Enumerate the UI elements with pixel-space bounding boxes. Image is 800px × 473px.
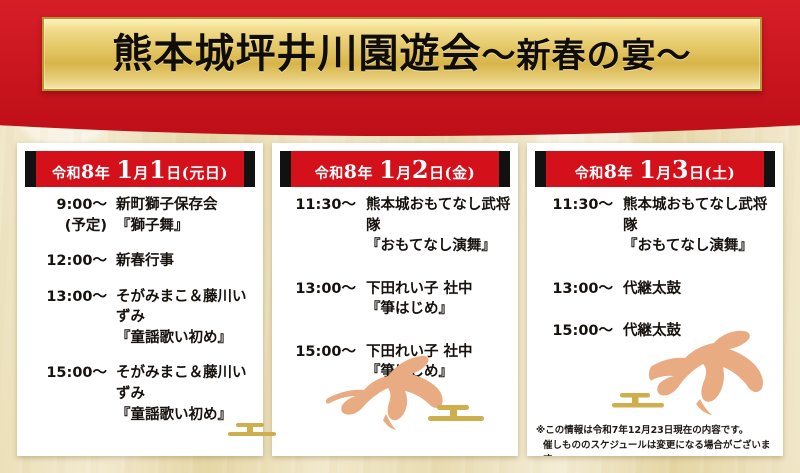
day-unit-2: 日 [429, 164, 445, 182]
day-number-1: 1 [149, 155, 166, 184]
era-label-2: 令和 [315, 166, 344, 182]
event-body: 代継太鼓 [623, 279, 777, 300]
event-time-value: 12:00〜 [46, 253, 107, 269]
month-unit-1: 月 [134, 164, 150, 182]
event-time: 15:00〜 [33, 363, 107, 384]
event-body: 熊本城おもてなし武将隊 『おもてなし演舞』 [623, 195, 777, 257]
event-time: 9:00〜 (予定) [33, 195, 107, 236]
page-title: 熊本城坪井川園遊会〜新春の宴〜 [113, 34, 692, 74]
event-body: そがみまこ＆藤川いずみ 『童謡歌い初め』 [116, 287, 257, 349]
event-time: 13:00〜 [33, 287, 107, 308]
month-number-2: 1 [379, 155, 396, 184]
event-item: 15:00〜 そがみまこ＆藤川いずみ 『童謡歌い初め』 [33, 363, 257, 425]
event-title: 代継太鼓 [623, 281, 681, 297]
year-unit-1: 年 [95, 164, 111, 182]
day-number-3: 3 [672, 155, 689, 184]
day-header-2: 令和8年 1月2日(金) [280, 151, 510, 187]
event-subtitle: 『おもてなし演舞』 [366, 236, 512, 257]
day-of-week-3: (土) [705, 164, 736, 182]
event-time-value: 15:00〜 [46, 365, 107, 381]
day-header-text-3: 令和8年 1月3日(土) [575, 155, 735, 184]
day-header-text-1: 令和8年 1月1日(元日) [52, 155, 228, 184]
title-main: 熊本城坪井川園遊会 [113, 30, 482, 77]
event-item: 11:30〜 熊本城おもてなし武将隊 『おもてなし演舞』 [539, 195, 777, 257]
event-title: 新町獅子保存会 [116, 197, 218, 213]
event-item: 9:00〜 (予定) 新町獅子保存会 『獅子舞』 [33, 195, 257, 236]
event-title: 下田れい子 社中 [366, 281, 473, 297]
event-subtitle: 『獅子舞』 [116, 216, 257, 237]
era-year-3: 8 [604, 161, 618, 183]
event-subtitle: 『箏はじめ』 [366, 299, 512, 320]
event-item: 15:00〜 下田れい子 社中 『箏はじめ』 [282, 342, 512, 383]
event-title: 下田れい子 社中 [366, 344, 473, 360]
event-body: 下田れい子 社中 『箏はじめ』 [366, 342, 512, 383]
event-item: 12:00〜 新春行事 [33, 251, 257, 272]
event-time-note: (予定) [33, 216, 107, 237]
event-list-2: 11:30〜 熊本城おもてなし武将隊 『おもてなし演舞』 13:00〜 下田れい… [272, 195, 518, 405]
event-body: 新春行事 [116, 251, 257, 272]
event-title: そがみまこ＆藤川いずみ [116, 289, 247, 326]
event-time: 15:00〜 [282, 342, 356, 363]
event-time: 11:30〜 [539, 195, 613, 216]
event-title: 新春行事 [116, 253, 174, 269]
title-plaque: 熊本城坪井川園遊会〜新春の宴〜 [42, 17, 762, 91]
era-year-2: 8 [344, 161, 358, 183]
event-time: 11:30〜 [282, 195, 356, 216]
era-label-1: 令和 [52, 166, 81, 182]
event-item: 13:00〜 そがみまこ＆藤川いずみ 『童謡歌い初め』 [33, 287, 257, 349]
event-title: そがみまこ＆藤川いずみ [116, 365, 247, 402]
event-time: 12:00〜 [33, 251, 107, 272]
event-list-3: 11:30〜 熊本城おもてなし武将隊 『おもてなし演舞』 13:00〜 代継太鼓 [527, 195, 783, 364]
era-label-3: 令和 [575, 166, 604, 182]
event-subtitle: 『箏はじめ』 [366, 362, 512, 383]
era-year-1: 8 [81, 161, 95, 183]
day-header-1: 令和8年 1月1日(元日) [25, 151, 255, 187]
event-time-value: 11:30〜 [552, 197, 613, 213]
day-panel-2: 令和8年 1月2日(金) 11:30〜 熊本城おもてなし武将隊 『おもてなし演舞… [272, 143, 518, 456]
disclaimer-line-1: ※この情報は令和7年12月23日現在の内容です。 [536, 425, 748, 436]
disclaimer-note: ※この情報は令和7年12月23日現在の内容です。 催しもののスケジュールは変更に… [536, 424, 782, 456]
event-time-value: 13:00〜 [46, 289, 107, 305]
event-body: 熊本城おもてなし武将隊 『おもてなし演舞』 [366, 195, 512, 257]
day-header-3: 令和8年 1月3日(土) [535, 151, 775, 187]
year-unit-2: 年 [358, 164, 374, 182]
event-time-value: 15:00〜 [552, 323, 613, 339]
event-time: 13:00〜 [539, 279, 613, 300]
event-time: 13:00〜 [282, 279, 356, 300]
event-list-1: 9:00〜 (予定) 新町獅子保存会 『獅子舞』 12:00〜 新春行事 [17, 195, 263, 440]
day-number-2: 2 [412, 155, 429, 184]
event-time-value: 13:00〜 [295, 281, 356, 297]
event-time-value: 9:00〜 [56, 197, 107, 213]
event-time-value: 13:00〜 [552, 281, 613, 297]
month-unit-2: 月 [396, 164, 412, 182]
event-body: 代継太鼓 [623, 321, 777, 342]
schedule-panels: 令和8年 1月1日(元日) 9:00〜 (予定) 新町獅子保存会 『獅子舞』 [0, 143, 800, 456]
day-of-week-2: (金) [445, 164, 476, 182]
day-panel-1: 令和8年 1月1日(元日) 9:00〜 (予定) 新町獅子保存会 『獅子舞』 [17, 143, 263, 456]
event-time: 15:00〜 [539, 321, 613, 342]
event-body: そがみまこ＆藤川いずみ 『童謡歌い初め』 [116, 363, 257, 425]
event-subtitle: 『童謡歌い初め』 [116, 328, 257, 349]
day-header-text-2: 令和8年 1月2日(金) [315, 155, 475, 184]
event-title: 代継太鼓 [623, 323, 681, 339]
month-number-1: 1 [116, 155, 133, 184]
event-time-value: 15:00〜 [295, 344, 356, 360]
month-unit-3: 月 [656, 164, 672, 182]
day-unit-1: 日 [166, 164, 182, 182]
event-time-value: 11:30〜 [295, 197, 356, 213]
month-number-3: 1 [639, 155, 656, 184]
year-unit-3: 年 [618, 164, 634, 182]
disclaimer-line-2: 催しもののスケジュールは変更になる場合がございます。 [536, 439, 782, 456]
event-item: 11:30〜 熊本城おもてなし武将隊 『おもてなし演舞』 [282, 195, 512, 257]
day-panel-3: 令和8年 1月3日(土) 11:30〜 熊本城おもてなし武将隊 『おもてなし演舞… [527, 143, 783, 456]
title-sub: 〜新春の宴〜 [482, 36, 692, 76]
event-item: 13:00〜 代継太鼓 [539, 279, 777, 300]
day-unit-3: 日 [689, 164, 705, 182]
event-body: 新町獅子保存会 『獅子舞』 [116, 195, 257, 236]
day-of-week-1: (元日) [182, 164, 228, 182]
event-item: 15:00〜 代継太鼓 [539, 321, 777, 342]
event-subtitle: 『童謡歌い初め』 [116, 405, 257, 426]
poster-root: 熊本城坪井川園遊会〜新春の宴〜 令和8年 1月1日(元日) 9:00〜 (予定)… [0, 0, 800, 473]
event-body: 下田れい子 社中 『箏はじめ』 [366, 279, 512, 320]
event-item: 13:00〜 下田れい子 社中 『箏はじめ』 [282, 279, 512, 320]
event-title: 熊本城おもてなし武将隊 [623, 197, 767, 234]
event-title: 熊本城おもてなし武将隊 [366, 197, 510, 234]
event-subtitle: 『おもてなし演舞』 [623, 236, 777, 257]
